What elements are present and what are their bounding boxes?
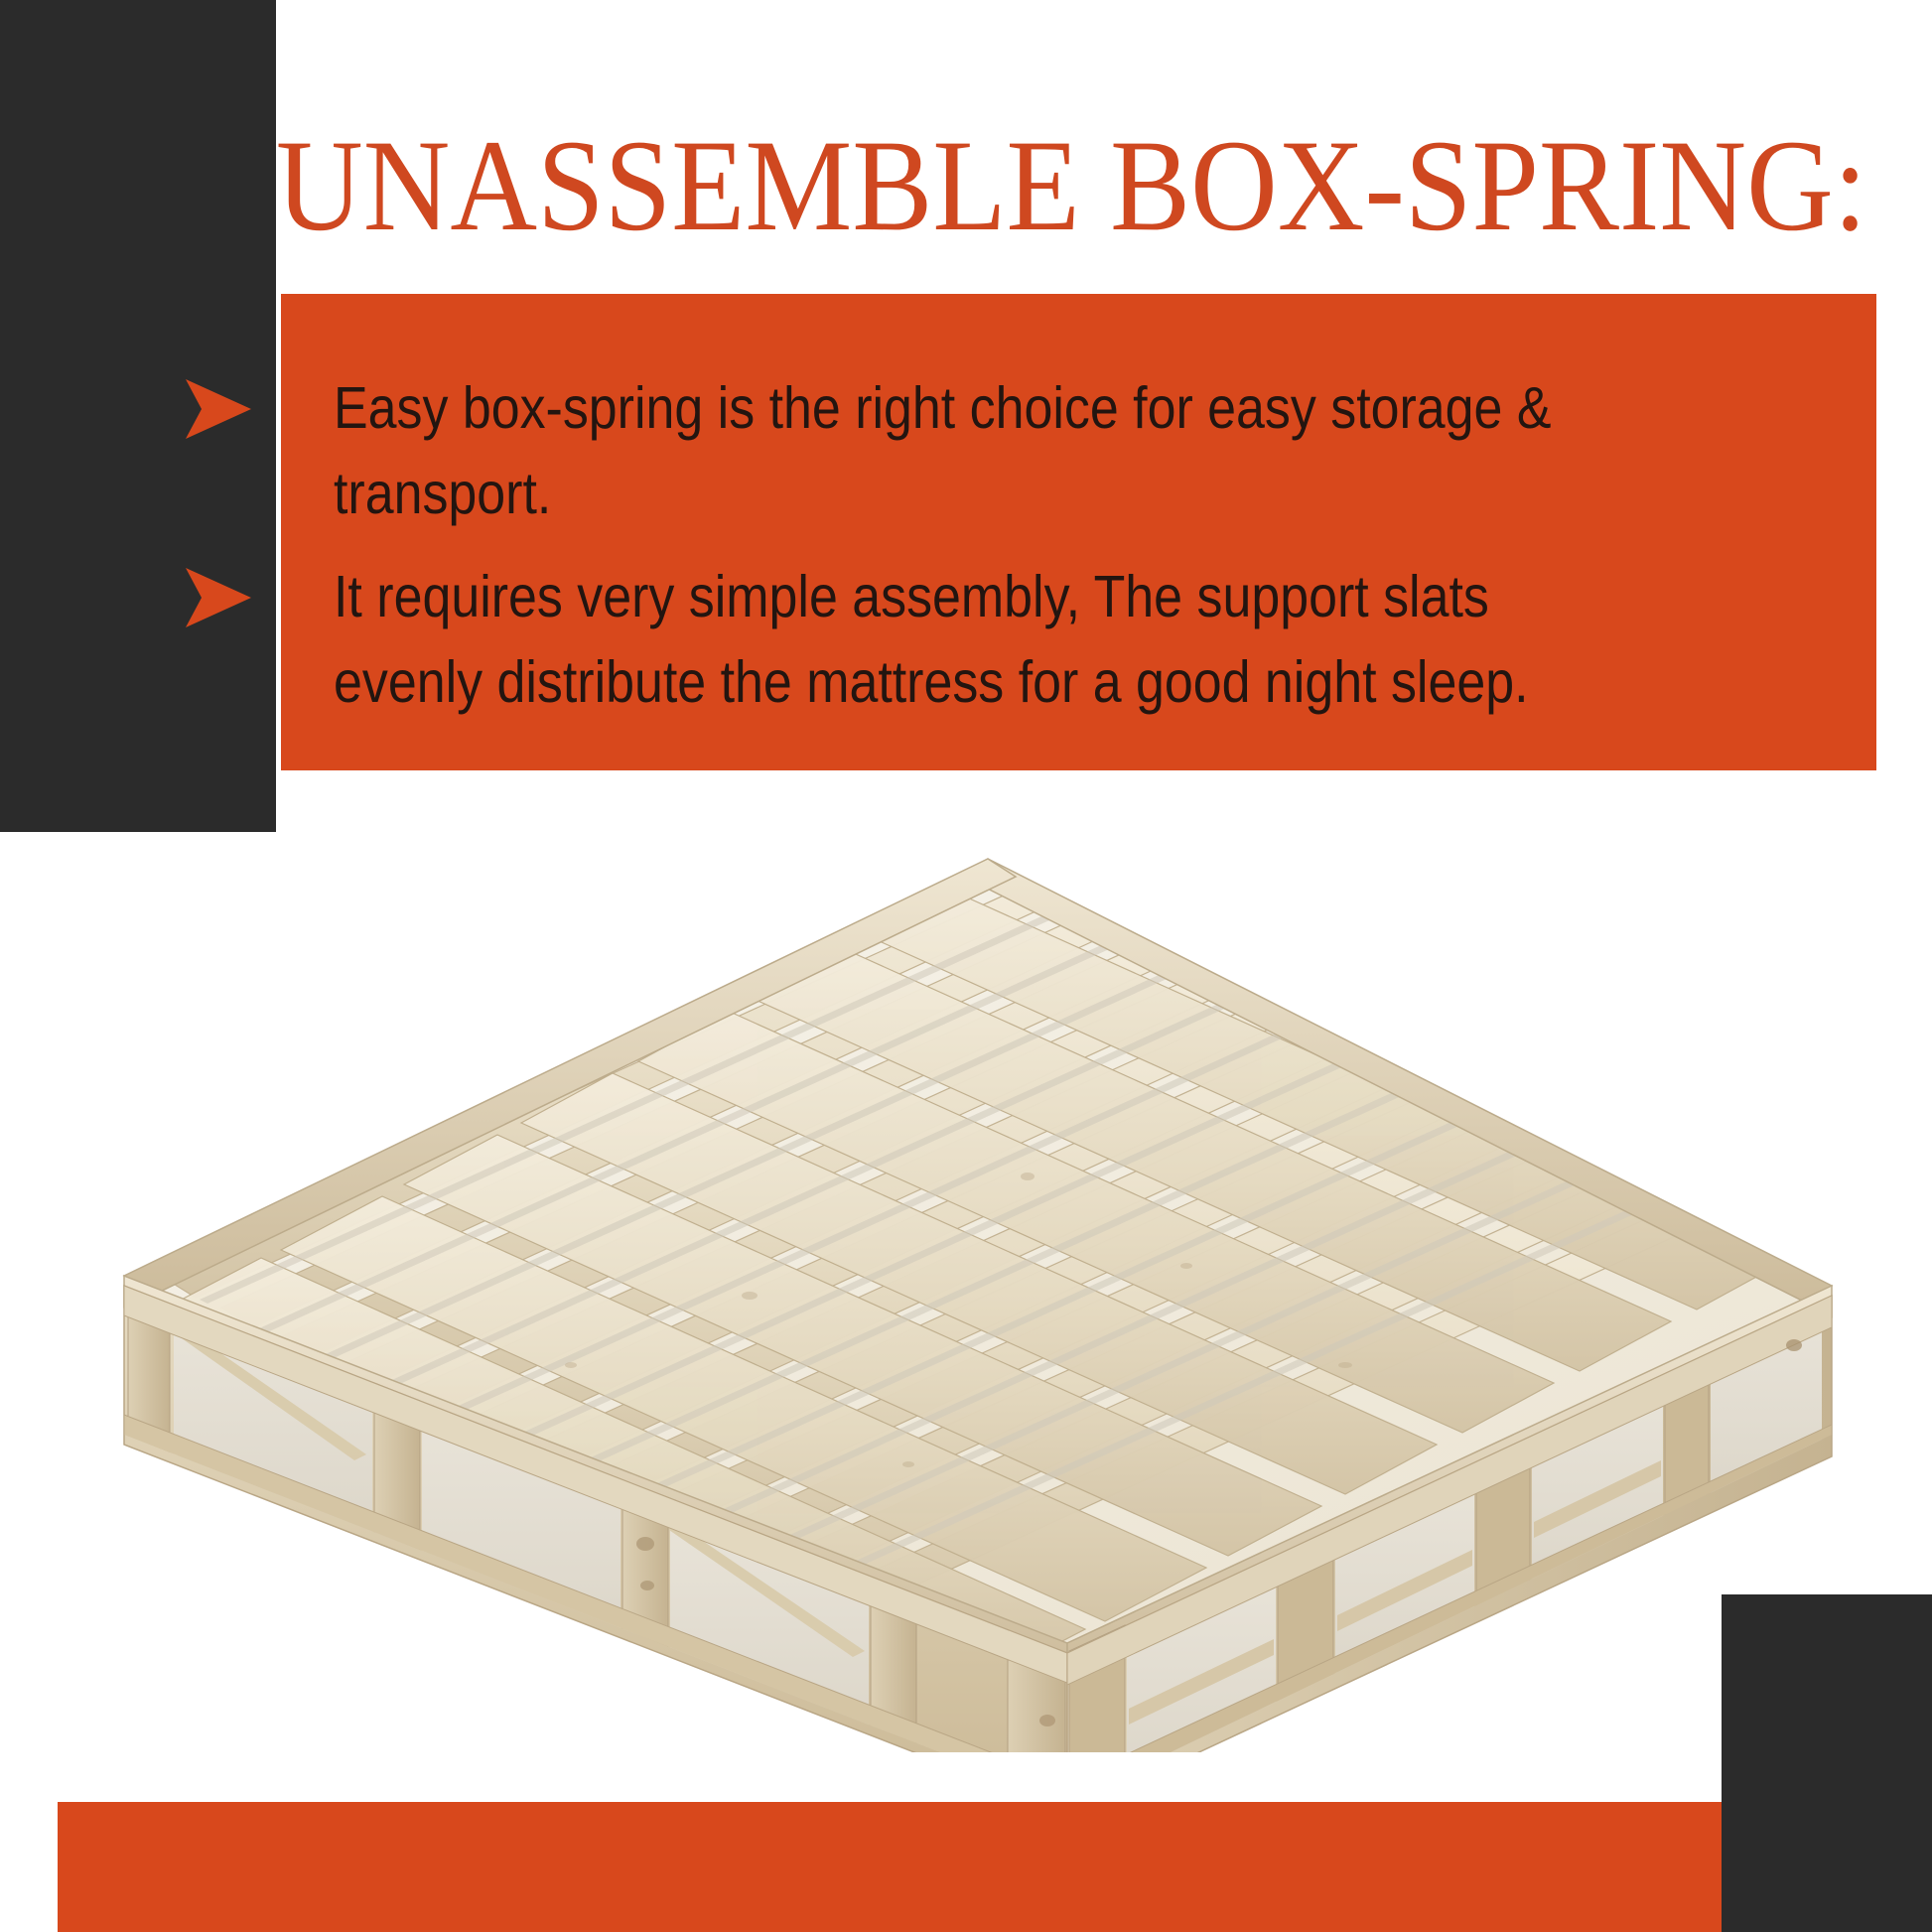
- arrow-right-icon: [186, 379, 251, 439]
- infographic-page: UNASSEMBLE BOX-SPRING: Easy box-spring i…: [0, 0, 1932, 1932]
- dark-corner-block: [1722, 1594, 1932, 1932]
- box-spring-product-photo: [55, 849, 1921, 1752]
- arrow-right-icon: [186, 568, 251, 627]
- orange-footer-bar: [58, 1802, 1722, 1932]
- list-item-text: It requires very simple assembly, The su…: [334, 554, 1626, 725]
- list-item-text: Easy box-spring is the right choice for …: [334, 365, 1626, 536]
- bullet-list: Easy box-spring is the right choice for …: [281, 294, 1876, 770]
- page-title: UNASSEMBLE BOX-SPRING:: [276, 111, 1748, 290]
